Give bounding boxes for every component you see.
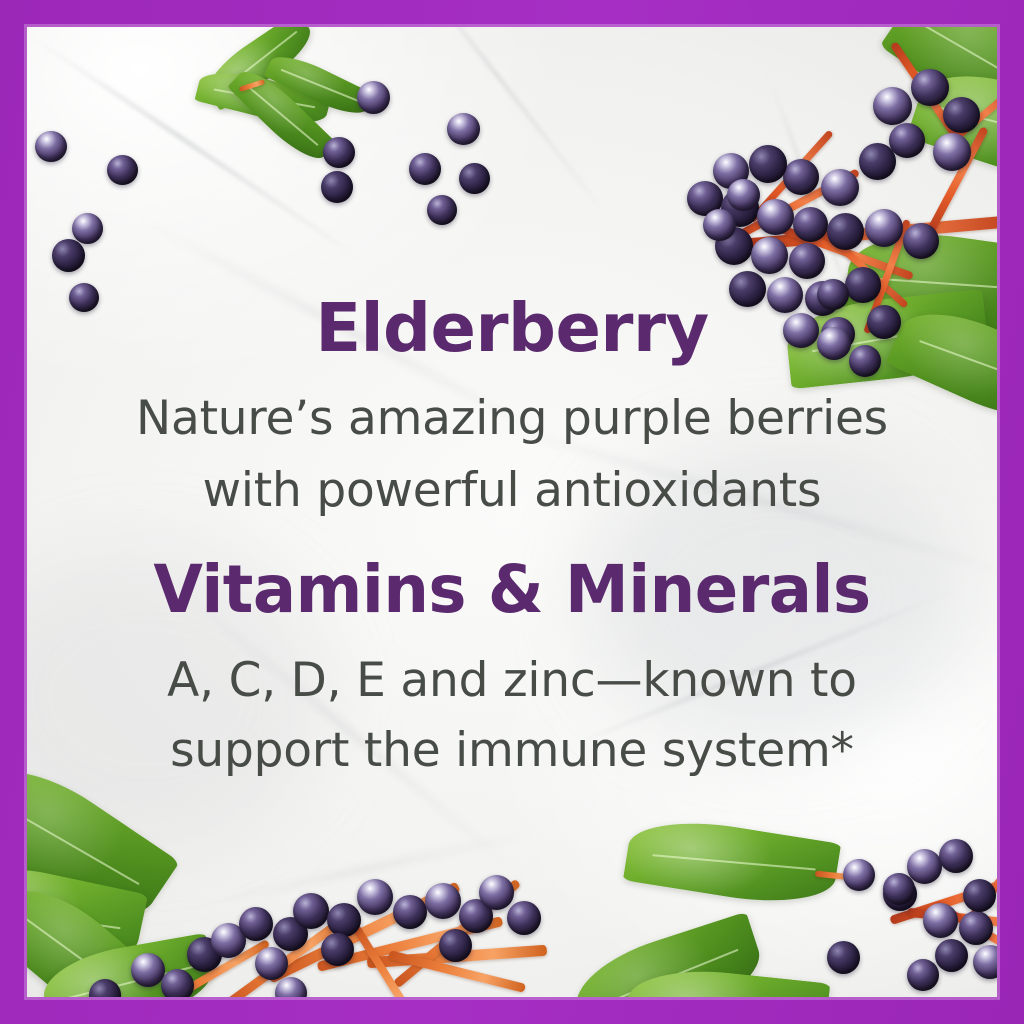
berry	[873, 87, 912, 125]
berry	[729, 271, 766, 307]
marble-photo-background: Elderberry Nature’s amazing purple berri…	[27, 27, 997, 997]
graphic-canvas: Elderberry Nature’s amazing purple berri…	[0, 0, 1024, 1024]
berry	[327, 903, 361, 937]
berry	[727, 179, 760, 211]
berry	[439, 929, 472, 962]
berry	[357, 81, 390, 114]
berry	[959, 911, 993, 945]
berry	[427, 195, 457, 225]
berry	[827, 213, 864, 250]
berry	[783, 159, 819, 195]
berry	[789, 243, 825, 279]
berry	[321, 171, 353, 203]
berry	[255, 947, 288, 980]
berry	[827, 941, 860, 974]
berry	[867, 305, 901, 339]
berry	[889, 123, 925, 158]
berry	[751, 237, 788, 274]
berry	[793, 207, 828, 242]
berry	[409, 153, 441, 185]
berry	[933, 133, 971, 171]
berry	[845, 267, 881, 303]
berry	[52, 239, 85, 272]
berry	[843, 859, 875, 891]
berry	[757, 199, 794, 235]
berry	[72, 213, 103, 244]
berry	[865, 209, 903, 247]
berry	[161, 969, 194, 997]
berry	[131, 953, 165, 987]
berry	[923, 903, 958, 938]
berry	[107, 155, 138, 185]
marble-shading	[587, 447, 967, 747]
berry	[821, 169, 859, 206]
berry	[479, 875, 514, 910]
berry	[69, 283, 99, 312]
berry	[703, 209, 736, 241]
berry	[859, 143, 896, 180]
berry	[447, 113, 480, 145]
berry	[817, 279, 849, 310]
berry	[911, 69, 949, 106]
berry	[323, 137, 355, 168]
berry	[767, 277, 803, 313]
berry	[393, 895, 427, 929]
berry	[907, 849, 942, 884]
berry	[935, 939, 968, 972]
berry	[963, 879, 996, 912]
berry	[425, 883, 461, 919]
berry	[293, 893, 329, 929]
berry	[817, 327, 851, 360]
berry	[507, 901, 541, 935]
berry	[321, 933, 354, 966]
berry	[749, 145, 787, 183]
berry	[883, 873, 915, 905]
berry	[459, 163, 490, 194]
berry	[943, 97, 980, 133]
berry	[849, 345, 881, 377]
berry	[939, 839, 973, 873]
berry	[35, 131, 67, 162]
berry	[783, 313, 819, 348]
berry	[357, 879, 393, 915]
berry	[239, 907, 273, 941]
berry	[903, 223, 939, 259]
berry	[907, 959, 939, 991]
